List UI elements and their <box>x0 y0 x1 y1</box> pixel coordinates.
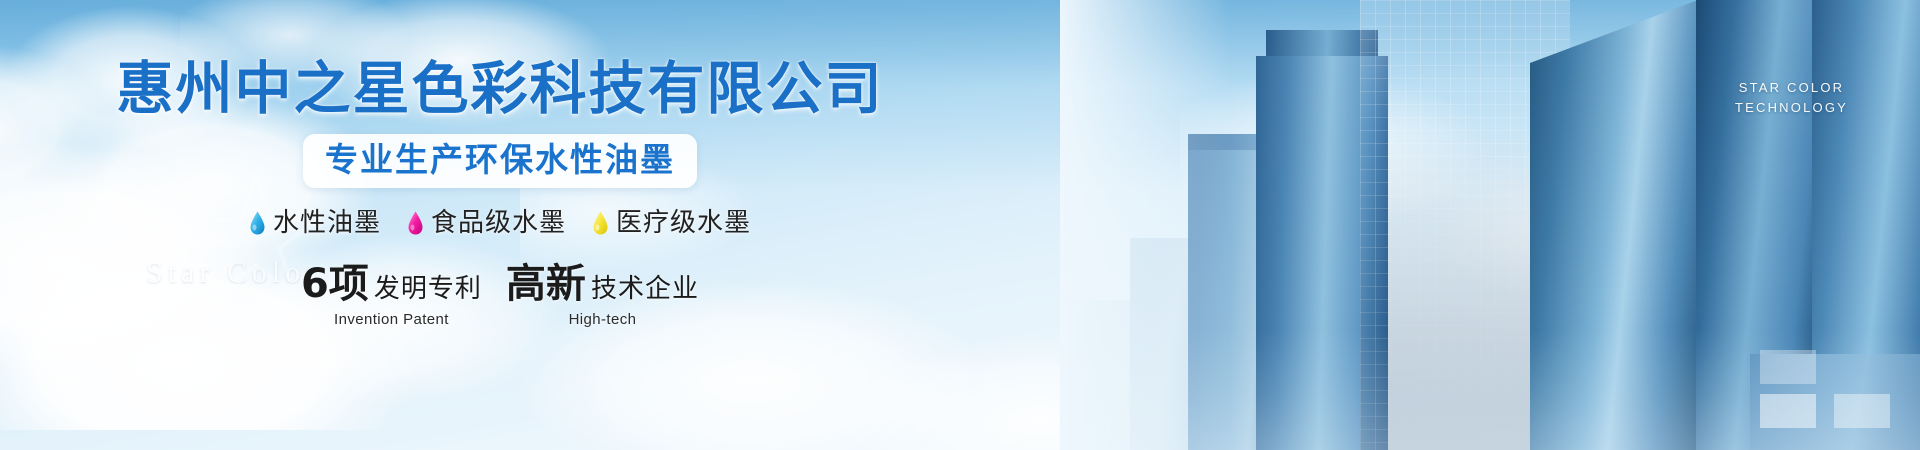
water-drop-icon <box>407 211 424 235</box>
badge-highlight: 高新 <box>506 261 586 307</box>
badge-chinese-text: 6项 发明专利 <box>301 264 482 304</box>
badge-highlight: 6项 <box>301 261 369 307</box>
product-tag-label: 医疗级水墨 <box>616 208 751 238</box>
page-title: 惠州中之星色彩科技有限公司 <box>117 58 884 120</box>
product-tag-row: 水性油墨 食品级水墨 <box>249 208 751 238</box>
water-drop-icon <box>592 211 609 235</box>
badge-detail: 技术企业 <box>591 274 699 304</box>
badge-detail: 发明专利 <box>374 274 482 304</box>
product-tag-water-based-ink: 水性油墨 <box>249 208 381 238</box>
cityscape-left-fade <box>1060 0 1230 450</box>
badge-english-text: High-tech <box>506 311 699 328</box>
credential-badge-row: 6项 发明专利 Invention Patent 高新 技术企业 High-te… <box>301 264 699 328</box>
water-drop-icon <box>249 211 266 235</box>
subtitle-text: 专业生产环保水性油墨 <box>325 141 675 179</box>
cityscape-photo <box>1060 0 1920 450</box>
badge-invention-patent: 6项 发明专利 Invention Patent <box>301 264 482 328</box>
company-hero-banner: Star Color STAR COLOR TECHNOLOGY 惠州中之星色彩… <box>0 0 1920 450</box>
badge-english-text: Invention Patent <box>301 311 482 328</box>
product-tag-medical-grade-ink: 医疗级水墨 <box>592 208 751 238</box>
badge-chinese-text: 高新 技术企业 <box>506 264 699 304</box>
banner-content: 惠州中之星色彩科技有限公司 专业生产环保水性油墨 水性油 <box>0 0 1000 450</box>
product-tag-label: 水性油墨 <box>273 208 381 238</box>
subtitle-pill: 专业生产环保水性油墨 <box>303 134 697 188</box>
product-tag-label: 食品级水墨 <box>431 208 566 238</box>
product-tag-food-grade-ink: 食品级水墨 <box>407 208 566 238</box>
badge-high-tech-enterprise: 高新 技术企业 High-tech <box>506 264 699 328</box>
